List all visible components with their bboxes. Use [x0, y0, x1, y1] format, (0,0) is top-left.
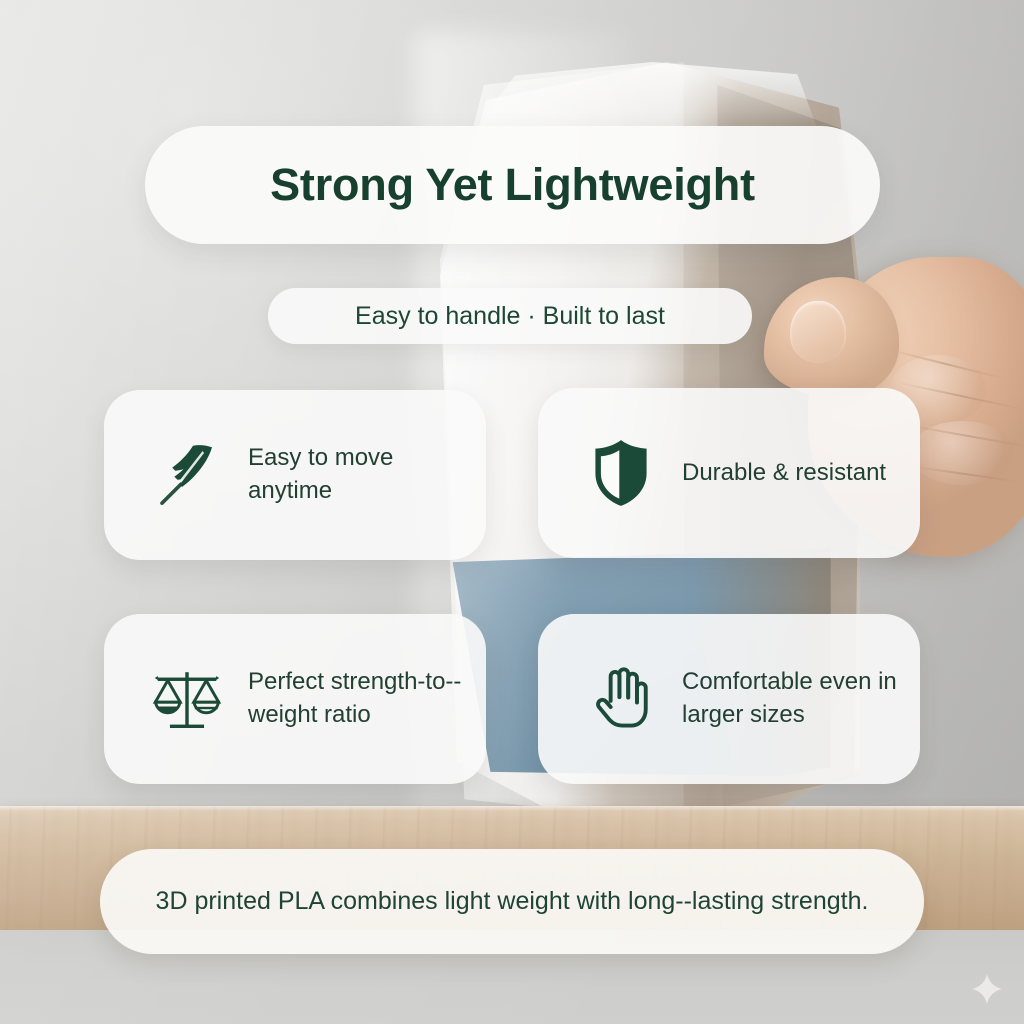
shield-icon: [582, 434, 660, 512]
feature-card-comfortable[interactable]: Comfortable even in larger sizes: [538, 614, 920, 784]
feather-icon: [148, 436, 226, 514]
feature-card-strength-to-weight[interactable]: Perfect strength-to--weight ratio: [104, 614, 486, 784]
footer-text: 3D printed PLA combines light weight wit…: [156, 884, 869, 920]
footer-pill: 3D printed PLA combines light weight wit…: [100, 849, 924, 954]
feature-card-easy-to-move[interactable]: Easy to move anytime: [104, 390, 486, 560]
infographic-overlay: Strong Yet Lightweight Easy to handle · …: [0, 0, 1024, 1024]
sparkle-icon: [970, 972, 1004, 1006]
feature-label: Comfortable even in larger sizes: [682, 666, 897, 731]
feature-label: Durable & resistant: [682, 457, 886, 490]
hand-icon: [582, 660, 660, 738]
feature-card-durable[interactable]: Durable & resistant: [538, 388, 920, 558]
feature-label: Easy to move anytime: [248, 442, 463, 507]
balance-scale-icon: [148, 660, 226, 738]
feature-label: Perfect strength-to--weight ratio: [248, 666, 463, 731]
